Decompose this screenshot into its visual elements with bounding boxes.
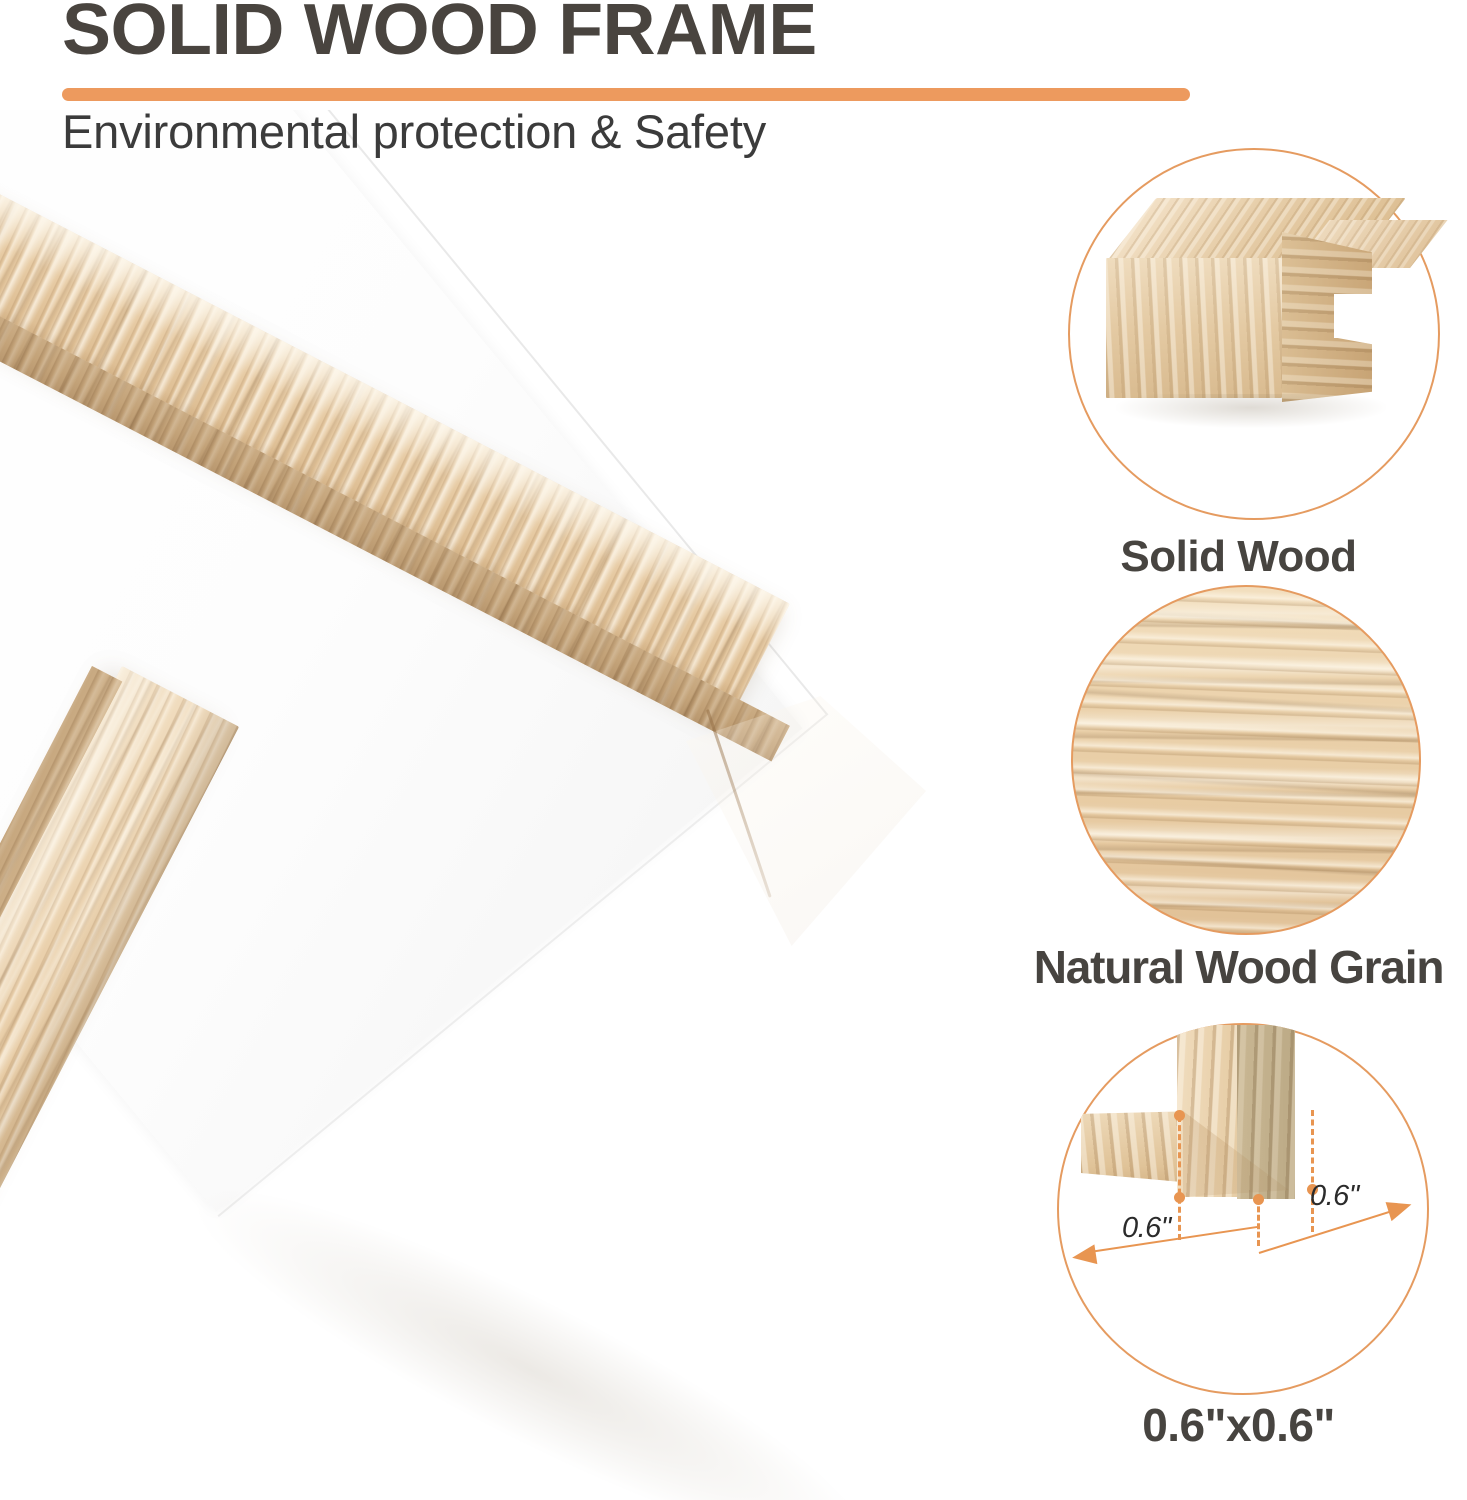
title-underline: [62, 88, 1190, 101]
frame-corner-dimension-icon: [1057, 1023, 1429, 1395]
frame-drop-shadow: [160, 1135, 901, 1500]
infographic-root: es SOLID WOOD FRAME Environmental protec…: [0, 0, 1467, 1500]
dim-label-width: 0.6": [1122, 1212, 1171, 1245]
feature-label: 0.6"x0.6": [1010, 1398, 1467, 1452]
feature-label: Natural Wood Grain: [996, 940, 1467, 994]
dim-guide: [1257, 1198, 1260, 1246]
wood-grain-swatch-icon: [1071, 585, 1421, 935]
feature-label: Solid Wood: [1010, 532, 1467, 582]
dim-guide: [1178, 1116, 1181, 1240]
page-title: SOLID WOOD FRAME: [62, 0, 817, 66]
page-subtitle: Environmental protection & Safety: [62, 105, 766, 159]
dim-arrow-left-icon: [1071, 1244, 1098, 1267]
feature-column: Solid Wood Natural Wood Grain: [1010, 0, 1467, 1500]
wood-block-profile-icon: [1106, 198, 1406, 428]
header: SOLID WOOD FRAME Environmental protectio…: [0, 0, 1220, 165]
product-photo: es: [0, 110, 1010, 1500]
dim-label-depth: 0.6": [1310, 1180, 1359, 1213]
